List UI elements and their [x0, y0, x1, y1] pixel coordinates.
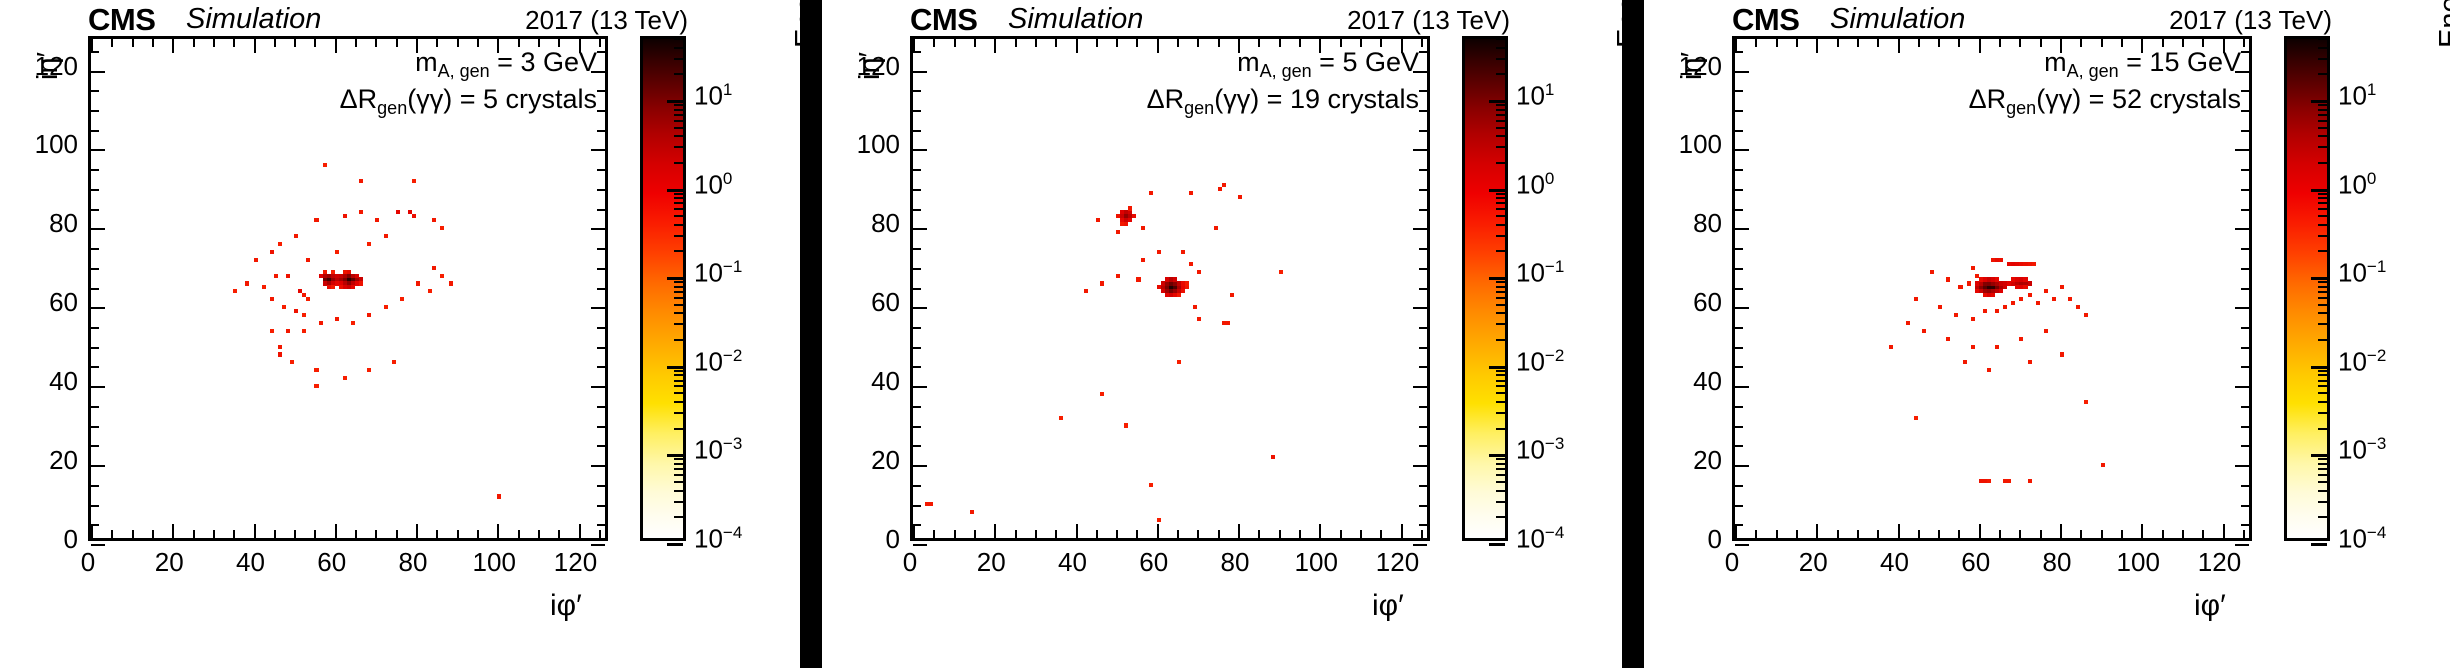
colorbar-minor-tick — [2318, 374, 2327, 376]
crystal-hit — [1120, 210, 1124, 214]
crystal-hit — [1991, 293, 1995, 297]
crystal-hit — [412, 179, 416, 183]
crystal-hit — [1971, 317, 1975, 321]
x-minor-tick — [2243, 530, 2245, 538]
x-tick-label: 20 — [1783, 547, 1843, 578]
colorbar-minor-tick — [674, 291, 683, 293]
y-major-tick — [1735, 228, 1749, 230]
simulation-label: Simulation — [186, 3, 321, 36]
y-minor-tick — [91, 189, 99, 191]
y-major-tick-right — [591, 465, 605, 467]
colorbar-minor-tick — [1496, 197, 1505, 199]
plot-frame: mA, gen = 5 GeVΔRgen(γγ) = 19 crystals — [910, 36, 1430, 541]
x-major-tick — [1979, 524, 1981, 538]
crystal-hit — [367, 242, 371, 246]
y-minor-tick-right — [597, 485, 605, 487]
y-minor-tick-right — [1419, 505, 1427, 507]
crystal-hit — [270, 297, 274, 301]
colorbar-tick-label: 100 — [694, 169, 732, 200]
x-minor-tick — [274, 530, 276, 538]
y-major-tick-right — [2235, 465, 2249, 467]
y-major-tick — [913, 149, 927, 151]
crystal-hit — [392, 360, 396, 364]
x-major-tick — [1076, 524, 1078, 538]
x-major-tick — [1816, 524, 1818, 538]
crystal-hit — [1193, 305, 1197, 309]
y-axis-title-text: iη′ — [854, 52, 887, 80]
x-minor-tick-top — [2040, 39, 2042, 47]
y-major-tick — [913, 307, 927, 309]
crystal-hit — [1161, 281, 1165, 285]
y-minor-tick-right — [2241, 485, 2249, 487]
colorbar-minor-tick — [2318, 235, 2327, 237]
x-minor-tick — [1299, 530, 1301, 538]
crystal-hit — [1181, 250, 1185, 254]
colorbar-minor-tick — [674, 38, 683, 40]
colorbar-major-tick — [2311, 277, 2327, 280]
colorbar-minor-tick — [1496, 281, 1505, 283]
colorbar-minor-tick — [1496, 428, 1505, 430]
colorbar-major-tick — [1489, 277, 1505, 280]
x-minor-tick — [2019, 530, 2021, 538]
crystal-hit — [1100, 392, 1104, 396]
simulation-label: Simulation — [1008, 3, 1143, 36]
crystal-hit — [1983, 309, 1987, 313]
colorbar-minor-tick — [2318, 392, 2327, 394]
x-major-tick-top — [1157, 39, 1159, 53]
colorbar-minor-tick — [674, 73, 683, 75]
y-major-tick — [913, 386, 927, 388]
x-minor-tick — [1218, 530, 1220, 538]
colorbar-major-tick — [1489, 543, 1505, 546]
x-minor-tick-top — [1877, 39, 1879, 47]
crystal-hit — [1999, 289, 2003, 293]
colorbar-minor-tick — [674, 468, 683, 470]
x-minor-tick-top — [294, 39, 296, 47]
crystal-hit — [2003, 285, 2007, 289]
x-minor-tick-top — [2019, 39, 2021, 47]
x-minor-tick — [152, 530, 154, 538]
x-minor-tick — [1096, 530, 1098, 538]
x-minor-tick — [1116, 530, 1118, 538]
y-minor-tick — [91, 209, 99, 211]
x-minor-tick-top — [233, 39, 235, 47]
colorbar-minor-tick — [2318, 224, 2327, 226]
y-minor-tick-right — [1419, 248, 1427, 250]
colorbar-minor-tick — [1496, 474, 1505, 476]
y-minor-tick — [91, 110, 99, 112]
y-minor-tick-right — [2241, 347, 2249, 349]
y-major-tick-right — [1413, 465, 1427, 467]
x-minor-tick-top — [2162, 39, 2164, 47]
y-minor-tick — [91, 505, 99, 507]
colorbar-minor-tick — [1496, 202, 1505, 204]
colorbar-minor-tick — [1496, 109, 1505, 111]
y-minor-tick-right — [597, 524, 605, 526]
y-major-tick — [91, 228, 105, 230]
crystal-hit — [1271, 455, 1275, 459]
y-major-tick-right — [1413, 386, 1427, 388]
y-axis-title: iη′ — [820, 34, 864, 94]
crystal-hit — [449, 281, 453, 285]
colorbar-minor-tick — [2318, 412, 2327, 414]
colorbar-major-tick — [2311, 543, 2327, 546]
crystal-hit — [1177, 293, 1181, 297]
colorbar-minor-tick — [674, 428, 683, 430]
x-minor-tick — [1918, 530, 1920, 538]
y-minor-tick — [91, 426, 99, 428]
y-minor-tick-right — [597, 347, 605, 349]
colorbar-major-tick — [1489, 189, 1505, 192]
y-major-tick — [91, 544, 105, 546]
colorbar-minor-tick — [2318, 501, 2327, 503]
colorbar-minor-tick — [1496, 312, 1505, 314]
crystal-hit — [2036, 301, 2040, 305]
x-minor-tick-top — [355, 39, 357, 47]
x-minor-tick-top — [457, 39, 459, 47]
y-minor-tick-right — [1419, 288, 1427, 290]
y-major-tick-right — [2235, 544, 2249, 546]
y-major-tick-right — [591, 149, 605, 151]
x-major-tick — [2141, 524, 2143, 538]
y-minor-tick-right — [2241, 169, 2249, 171]
crystal-hit — [355, 274, 359, 278]
x-minor-tick — [375, 530, 377, 538]
colorbar-minor-tick — [1496, 235, 1505, 237]
y-minor-tick — [91, 288, 99, 290]
colorbar-minor-tick — [1496, 127, 1505, 129]
figure-root: CMSSimulation2017 (13 TeV)mA, gen = 3 Ge… — [0, 0, 2450, 668]
crystal-hit — [1279, 270, 1283, 274]
crystal-hit — [1141, 258, 1145, 262]
crystal-hit — [2023, 285, 2027, 289]
y-minor-tick — [1735, 406, 1743, 408]
crystal-hit — [400, 297, 404, 301]
x-minor-tick-top — [375, 39, 377, 47]
colorbar-tick-label: 10−2 — [694, 346, 742, 377]
x-major-tick — [1898, 524, 1900, 538]
x-minor-tick — [2162, 530, 2164, 538]
x-major-tick — [579, 524, 581, 538]
x-minor-tick-top — [111, 39, 113, 47]
y-major-tick — [91, 71, 105, 73]
crystal-hit — [1124, 423, 1128, 427]
y-minor-tick — [1735, 51, 1743, 53]
crystal-hit — [367, 313, 371, 317]
crystal-hit — [1165, 277, 1169, 281]
x-major-tick — [1401, 524, 1403, 538]
x-minor-tick — [1380, 530, 1382, 538]
crystal-hit — [262, 285, 266, 289]
colorbar-major-tick — [667, 454, 683, 457]
crystal-hit — [440, 226, 444, 230]
crystal-hit — [1938, 305, 1942, 309]
colorbar-major-tick — [1489, 454, 1505, 457]
y-minor-tick-right — [1419, 366, 1427, 368]
x-minor-tick — [1421, 530, 1423, 538]
colorbar-minor-tick — [2318, 250, 2327, 252]
colorbar-minor-tick — [2318, 208, 2327, 210]
y-minor-tick-right — [597, 189, 605, 191]
cms-header: CMSSimulation2017 (13 TeV) — [1732, 2, 2332, 36]
lumi-energy-label: 2017 (13 TeV) — [1347, 5, 1510, 36]
y-minor-tick-right — [2241, 209, 2249, 211]
x-minor-tick-top — [974, 39, 976, 47]
x-minor-tick-top — [1796, 39, 1798, 47]
colorbar-major-tick — [667, 366, 683, 369]
y-minor-tick — [91, 406, 99, 408]
crystal-hit — [1157, 250, 1161, 254]
colorbar-minor-tick — [674, 135, 683, 137]
x-major-tick-top — [335, 39, 337, 53]
y-tick-label: 20 — [1660, 445, 1722, 476]
x-tick-label: 120 — [1368, 547, 1428, 578]
y-minor-tick — [913, 485, 921, 487]
colorbar-minor-tick — [1496, 458, 1505, 460]
crystal-hit — [1116, 214, 1120, 218]
deltar-symbol: ΔR — [340, 84, 378, 114]
y-major-tick-right — [591, 544, 605, 546]
colorbar-tick-label: 101 — [1516, 80, 1554, 111]
x-minor-tick-top — [1015, 39, 1017, 47]
colorbar-tick-label: 101 — [2338, 80, 2376, 111]
colorbar-minor-tick — [674, 250, 683, 252]
y-minor-tick — [1735, 130, 1743, 132]
deltar-annotation: ΔRgen(γγ) = 52 crystals — [1969, 84, 2241, 118]
colorbar-minor-tick — [2318, 380, 2327, 382]
x-major-tick-top — [1898, 39, 1900, 53]
colorbar-minor-tick — [2318, 474, 2327, 476]
colorbar-minor-tick — [1496, 297, 1505, 299]
crystal-hit — [1971, 266, 1975, 270]
x-minor-tick — [1258, 530, 1260, 538]
y-major-tick — [1735, 71, 1749, 73]
crystal-hit — [2003, 305, 2007, 309]
y-minor-tick-right — [597, 426, 605, 428]
colorbar-minor-tick — [1496, 385, 1505, 387]
x-minor-tick-top — [933, 39, 935, 47]
x-major-tick — [172, 524, 174, 538]
x-major-tick-top — [1816, 39, 1818, 53]
colorbar-minor-tick — [2318, 47, 2327, 49]
y-major-tick — [91, 149, 105, 151]
crystal-hit — [2023, 277, 2027, 281]
crystal-hit — [294, 309, 298, 313]
x-minor-tick-top — [1136, 39, 1138, 47]
crystal-hit — [2032, 262, 2036, 266]
deltar-subscript: gen — [2006, 98, 2036, 118]
y-axis-title-text: iη′ — [1676, 52, 1709, 80]
x-tick-label: 60 — [1124, 547, 1184, 578]
y-minor-tick-right — [1419, 445, 1427, 447]
colorbar-minor-tick — [674, 516, 683, 518]
y-tick-label: 40 — [16, 366, 78, 397]
x-minor-tick — [1340, 530, 1342, 538]
y-minor-tick-right — [2241, 130, 2249, 132]
y-major-tick — [91, 465, 105, 467]
x-tick-label: 100 — [2108, 547, 2168, 578]
colorbar-minor-tick — [674, 224, 683, 226]
x-minor-tick-top — [132, 39, 134, 47]
crystal-hit — [1971, 345, 1975, 349]
crystal-hit — [1922, 329, 1926, 333]
x-major-tick — [1238, 524, 1240, 538]
colorbar-minor-tick — [2318, 162, 2327, 164]
x-minor-tick-top — [1755, 39, 1757, 47]
colorbar-minor-tick — [1496, 104, 1505, 106]
crystal-hit — [440, 274, 444, 278]
crystal-hit — [1136, 277, 1140, 281]
colorbar-major-tick — [2311, 189, 2327, 192]
y-tick-label: 80 — [16, 208, 78, 239]
colorbar-minor-tick — [1496, 47, 1505, 49]
y-minor-tick — [1735, 445, 1743, 447]
x-minor-tick — [2121, 530, 2123, 538]
crystal-hit — [396, 210, 400, 214]
colorbar-minor-tick — [674, 297, 683, 299]
x-minor-tick — [2040, 530, 2042, 538]
x-minor-tick — [1796, 530, 1798, 538]
colorbar-minor-tick — [674, 281, 683, 283]
x-major-tick — [994, 524, 996, 538]
crystal-hit — [359, 179, 363, 183]
x-axis-title: iφ′ — [1372, 589, 1404, 623]
deltar-subscript: gen — [377, 98, 407, 118]
colorbar-minor-tick — [674, 58, 683, 60]
cms-logo: CMS — [1732, 2, 1799, 38]
crystal-hit — [2019, 337, 2023, 341]
y-tick-label: 100 — [1660, 129, 1722, 160]
x-minor-tick — [294, 530, 296, 538]
crystal-hit — [1995, 345, 1999, 349]
colorbar-minor-tick — [1496, 135, 1505, 137]
colorbar-minor-tick — [2318, 120, 2327, 122]
x-minor-tick-top — [2243, 39, 2245, 47]
y-minor-tick-right — [2241, 90, 2249, 92]
x-minor-tick-top — [314, 39, 316, 47]
y-major-tick-right — [2235, 228, 2249, 230]
colorbar-major-tick — [667, 543, 683, 546]
y-minor-tick — [91, 169, 99, 171]
x-minor-tick — [1938, 530, 1940, 538]
y-minor-tick-right — [1419, 426, 1427, 428]
y-tick-label: 60 — [16, 287, 78, 318]
plot-panel-3: CMSSimulation2017 (13 TeV)mA, gen = 15 G… — [1644, 0, 2450, 668]
x-minor-tick — [1197, 530, 1199, 538]
colorbar-minor-tick — [674, 312, 683, 314]
crystal-hit — [2068, 297, 2072, 301]
crystal-hit — [1132, 214, 1136, 218]
colorbar-minor-tick — [2318, 463, 2327, 465]
x-minor-tick — [233, 530, 235, 538]
crystal-hit — [384, 305, 388, 309]
y-minor-tick — [913, 426, 921, 428]
crystal-hit — [1059, 416, 1063, 420]
crystal-hit — [1983, 277, 1987, 281]
colorbar-minor-tick — [1496, 193, 1505, 195]
mass-symbol: m — [1237, 47, 1260, 77]
colorbar-minor-tick — [674, 385, 683, 387]
crystal-hit — [416, 281, 420, 285]
y-major-tick-right — [2235, 307, 2249, 309]
colorbar-minor-tick — [1496, 250, 1505, 252]
colorbar-minor-tick — [2318, 104, 2327, 106]
y-major-tick — [1735, 465, 1749, 467]
colorbar-minor-tick — [2318, 215, 2327, 217]
y-minor-tick — [913, 51, 921, 53]
crystal-hit — [2044, 329, 2048, 333]
y-minor-tick-right — [597, 505, 605, 507]
colorbar-tick-label: 10−1 — [1516, 257, 1564, 288]
crystal-hit — [245, 281, 249, 285]
y-minor-tick — [1735, 248, 1743, 250]
colorbar-minor-tick — [674, 374, 683, 376]
x-minor-tick-top — [1360, 39, 1362, 47]
mass-subscript: A, gen — [2067, 61, 2119, 81]
colorbar-minor-tick — [674, 215, 683, 217]
colorbar-tick-label: 100 — [1516, 169, 1554, 200]
crystal-hit — [1177, 360, 1181, 364]
y-minor-tick — [1735, 426, 1743, 428]
crystal-hit — [1995, 277, 1999, 281]
crystal-hit — [1149, 483, 1153, 487]
x-tick-label: 100 — [464, 547, 524, 578]
y-minor-tick — [91, 485, 99, 487]
colorbar-minor-tick — [1496, 463, 1505, 465]
colorbar-tick-label: 10−2 — [2338, 346, 2386, 377]
crystal-hit — [290, 360, 294, 364]
x-minor-tick — [1136, 530, 1138, 538]
colorbar-minor-tick — [1496, 339, 1505, 341]
y-minor-tick — [91, 90, 99, 92]
colorbar-minor-tick — [1496, 481, 1505, 483]
crystal-hit — [302, 329, 306, 333]
y-minor-tick-right — [1419, 209, 1427, 211]
x-major-tick — [2223, 524, 2225, 538]
y-minor-tick-right — [1419, 347, 1427, 349]
y-minor-tick — [91, 445, 99, 447]
deltar-annotation: ΔRgen(γγ) = 5 crystals — [340, 84, 597, 118]
x-minor-tick — [1877, 530, 1879, 538]
y-tick-label: 40 — [838, 366, 900, 397]
y-minor-tick-right — [1419, 130, 1427, 132]
mass-symbol: m — [415, 47, 438, 77]
colorbar-minor-tick — [2318, 297, 2327, 299]
simulation-label: Simulation — [1830, 3, 1965, 36]
crystal-hit — [1979, 277, 1983, 281]
x-tick-label: 40 — [221, 547, 281, 578]
y-minor-tick-right — [1419, 90, 1427, 92]
colorbar-major-tick — [667, 189, 683, 192]
crystal-hit — [432, 218, 436, 222]
mass-annotation: mA, gen = 5 GeV — [1237, 47, 1419, 81]
colorbar-major-tick — [667, 277, 683, 280]
crystal-hit — [351, 285, 355, 289]
crystal-hit — [254, 258, 258, 262]
y-tick-label: 100 — [838, 129, 900, 160]
colorbar-minor-tick — [1496, 286, 1505, 288]
y-minor-tick — [913, 445, 921, 447]
colorbar-minor-tick — [674, 304, 683, 306]
x-minor-tick-top — [1177, 39, 1179, 47]
x-minor-tick — [396, 530, 398, 538]
colorbar-minor-tick — [674, 114, 683, 116]
y-minor-tick-right — [2241, 445, 2249, 447]
y-tick-label: 40 — [1660, 366, 1722, 397]
crystal-hit — [2101, 463, 2105, 467]
colorbar-minor-tick — [674, 401, 683, 403]
x-minor-tick — [1776, 530, 1778, 538]
